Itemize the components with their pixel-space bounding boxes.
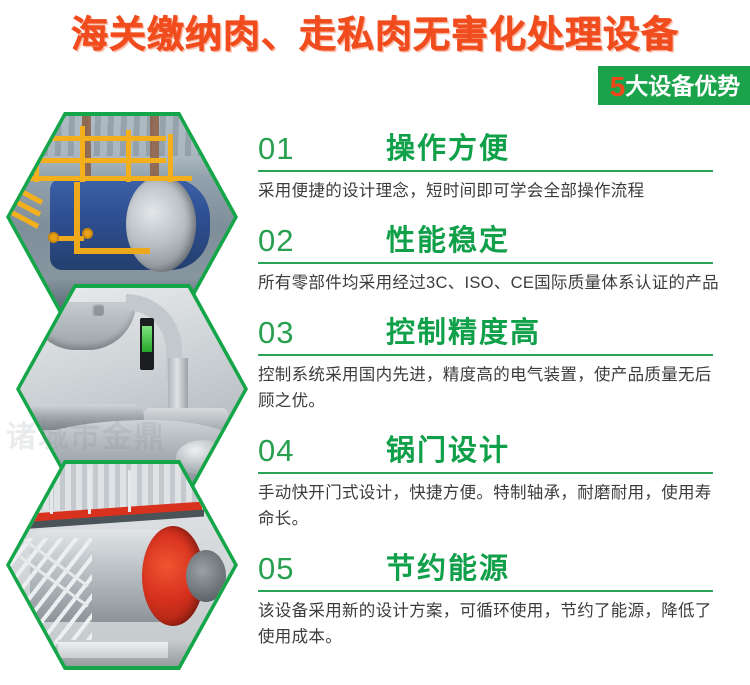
feature-item-03: 03 控制精度高 控制系统采用国内先进，精度高的电气装置，使产品质量无后顾之优。 bbox=[258, 306, 728, 414]
photo-tank-red-door-image bbox=[10, 464, 234, 666]
feature-item-02: 02 性能稳定 所有零部件均采用经过3C、ISO、CE国际质量体系认证的产品 bbox=[258, 214, 728, 296]
feature-divider bbox=[258, 262, 713, 264]
feature-header: 05 节约能源 bbox=[258, 542, 728, 584]
feature-divider bbox=[258, 472, 713, 474]
feature-divider bbox=[258, 170, 713, 172]
photo-2-frame bbox=[20, 288, 244, 490]
badge-number: 5 bbox=[610, 73, 626, 101]
feature-body: 所有零部件均采用经过3C、ISO、CE国际质量体系认证的产品 bbox=[258, 270, 720, 296]
feature-number: 01 bbox=[258, 133, 386, 164]
feature-title: 性能稳定 bbox=[386, 227, 510, 256]
feature-title: 操作方便 bbox=[386, 135, 510, 164]
feature-item-05: 05 节约能源 该设备采用新的设计方案，可循环使用，节约了能源，降低了使用成本。 bbox=[258, 542, 728, 650]
photo-hexagon-3 bbox=[6, 460, 238, 670]
feature-body: 控制系统采用国内先进，精度高的电气装置，使产品质量无后顾之优。 bbox=[258, 362, 720, 414]
photo-3-frame bbox=[10, 464, 234, 666]
feature-header: 04 锅门设计 bbox=[258, 424, 728, 466]
feature-number: 03 bbox=[258, 317, 386, 348]
feature-list: 01 操作方便 采用便捷的设计理念，短时间即可学会全部操作流程 02 性能稳定 … bbox=[258, 122, 728, 661]
feature-header: 02 性能稳定 bbox=[258, 214, 728, 256]
page-title: 海关缴纳肉、走私肉无害化处理设备 bbox=[0, 4, 750, 58]
feature-header: 01 操作方便 bbox=[258, 122, 728, 164]
feature-header: 03 控制精度高 bbox=[258, 306, 728, 348]
feature-divider bbox=[258, 354, 713, 356]
feature-title: 控制精度高 bbox=[386, 319, 541, 348]
infographic-page: 海关缴纳肉、走私肉无害化处理设备 5 大设备优势 bbox=[0, 0, 750, 685]
photo-column: 诸城市金鼎 bbox=[4, 112, 248, 682]
feature-item-01: 01 操作方便 采用便捷的设计理念，短时间即可学会全部操作流程 bbox=[258, 122, 728, 204]
advantages-badge: 5 大设备优势 bbox=[598, 66, 750, 105]
feature-title: 锅门设计 bbox=[386, 437, 510, 466]
feature-number: 04 bbox=[258, 435, 386, 466]
feature-body: 该设备采用新的设计方案，可循环使用，节约了能源，降低了使用成本。 bbox=[258, 598, 720, 650]
feature-body: 手动快开门式设计，快捷方便。特制轴承，耐磨耐用，使用寿命长。 bbox=[258, 480, 720, 532]
feature-body: 采用便捷的设计理念，短时间即可学会全部操作流程 bbox=[258, 178, 720, 204]
photo-valve-closeup-image bbox=[20, 288, 244, 490]
feature-divider bbox=[258, 590, 713, 592]
feature-number: 05 bbox=[258, 553, 386, 584]
feature-number: 02 bbox=[258, 225, 386, 256]
badge-label: 大设备优势 bbox=[625, 75, 740, 98]
feature-item-04: 04 锅门设计 手动快开门式设计，快捷方便。特制轴承，耐磨耐用，使用寿命长。 bbox=[258, 424, 728, 532]
feature-title: 节约能源 bbox=[386, 555, 510, 584]
